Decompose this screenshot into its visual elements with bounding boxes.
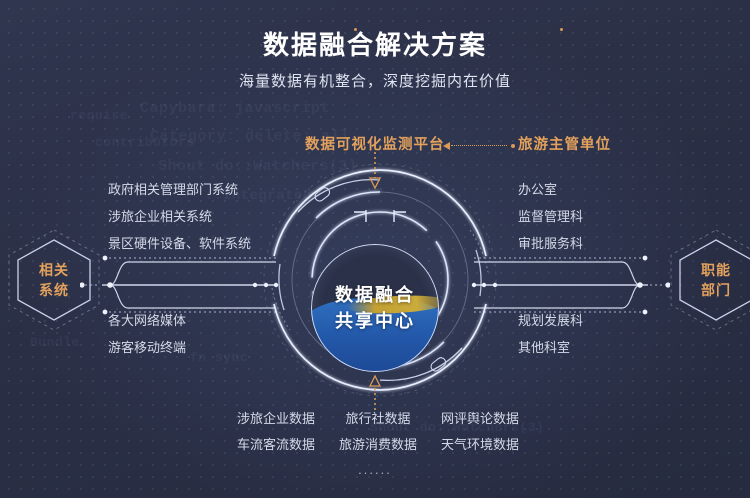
center-label-line2: 共享中心 [335,308,415,334]
left-hexagon-line2: 系统 [39,280,69,300]
right-bottom-item-list: 规划发展科 其他科室 [518,307,583,361]
arrow-line [451,145,507,146]
watermark-text: Bundle [30,335,80,350]
page-subtitle: 海量数据有机整合，深度挖掘内在价值 [0,70,750,91]
list-item[interactable]: 政府相关管理部门系统 [108,176,251,203]
left-hexagon-line1: 相关 [39,260,69,280]
list-item[interactable]: 办公室 [518,176,583,203]
center-sphere-label: 数据融合 共享中心 [311,244,439,372]
data-cell[interactable]: 网评舆论数据 [432,406,528,432]
data-cell[interactable]: 车流客流数据 [228,432,324,458]
list-item[interactable]: 各大网络媒体 [108,307,186,334]
right-hexagon-node[interactable]: 职能 部门 [668,228,750,332]
list-item[interactable]: 规划发展科 [518,307,583,334]
list-item[interactable]: 监督管理科 [518,203,583,230]
label-tourism-authority[interactable]: 旅游主管单位 [518,133,611,154]
right-hexagon-label: 职能 部门 [668,228,750,332]
label-visualization-platform[interactable]: 数据可视化监测平台 [305,133,445,154]
list-item[interactable]: 其他科室 [518,334,583,361]
arrow-tail-dot [511,144,515,148]
ellipsis-label: ...... [0,462,750,477]
right-top-item-list: 办公室 监督管理科 审批服务科 [518,176,583,257]
bottom-data-grid: 涉旅企业数据 旅行社数据 网评舆论数据 车流客流数据 旅游消费数据 天气环境数据 [228,406,528,458]
data-cell[interactable]: 天气环境数据 [432,432,528,458]
data-cell[interactable]: 旅游消费数据 [330,432,426,458]
data-row: 涉旅企业数据 旅行社数据 网评舆论数据 [228,406,528,432]
tick-dot-icon [560,28,563,31]
left-hexagon-node[interactable]: 相关 系统 [6,228,102,332]
watermark-text: require [70,108,128,123]
dotted-left-arrow-icon [443,142,515,150]
center-label-line1: 数据融合 [335,282,415,308]
data-cell[interactable]: 旅行社数据 [330,406,426,432]
list-item[interactable]: 游客移动终端 [108,334,186,361]
right-hexagon-line1: 职能 [701,260,731,280]
watermark-text: Capybara: javascript [140,100,330,117]
top-vertical-connector [369,152,381,192]
data-cell[interactable]: 涉旅企业数据 [228,406,324,432]
data-row: 车流客流数据 旅游消费数据 天气环境数据 [228,432,528,458]
right-hexagon-line2: 部门 [701,280,731,300]
left-top-item-list: 政府相关管理部门系统 涉旅企业相关系统 景区硬件设备、软件系统 [108,176,251,257]
watermark-text: fn sync [190,350,248,365]
infographic-canvas: Capybara: javascript Category: delete; a… [0,0,750,498]
page-title: 数据融合解决方案 [0,25,750,62]
list-item[interactable]: 景区硬件设备、软件系统 [108,230,251,257]
list-item[interactable]: 涉旅企业相关系统 [108,203,251,230]
tick-dot-icon [354,28,357,31]
list-item[interactable]: 审批服务科 [518,230,583,257]
arrow-head-icon [443,142,450,150]
left-hexagon-label: 相关 系统 [6,228,102,332]
left-bottom-item-list: 各大网络媒体 游客移动终端 [108,307,186,361]
